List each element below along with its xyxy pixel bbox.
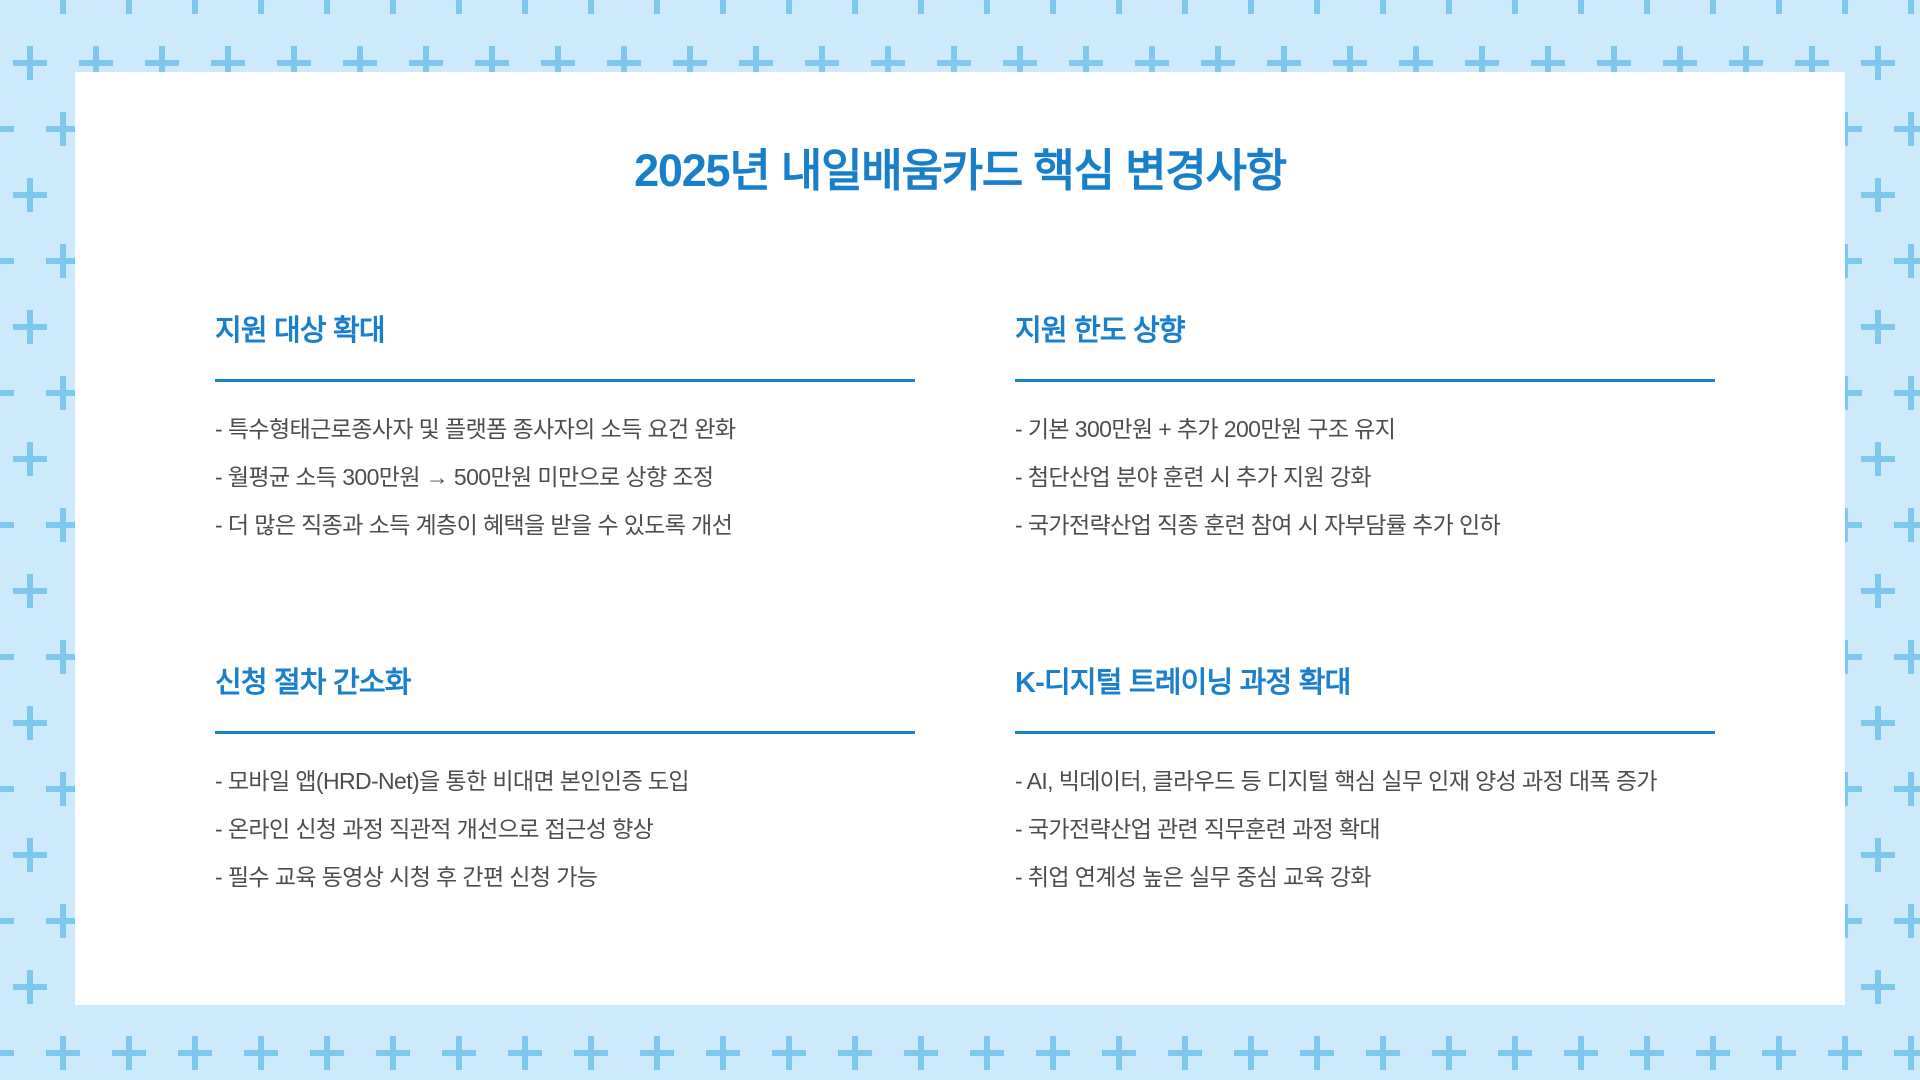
plus-icon: [0, 508, 14, 542]
plus-icon: [1861, 706, 1895, 740]
plus-icon: [1828, 1036, 1862, 1070]
plus-icon: [1432, 1036, 1466, 1070]
plus-icon: [1564, 1036, 1598, 1070]
poster-canvas: 2025년 내일배움카드 핵심 변경사항 지원 대상 확대 - 특수형태근로종사…: [0, 0, 1920, 1080]
plus-icon: [1894, 772, 1920, 806]
plus-icon: [1861, 574, 1895, 608]
plus-icon: [1696, 0, 1730, 14]
plus-icon: [376, 0, 410, 14]
section-divider: [215, 731, 915, 734]
plus-icon: [970, 0, 1004, 14]
plus-icon: [112, 0, 146, 14]
plus-icon: [1861, 310, 1895, 344]
list-item: - 취업 연계성 높은 실무 중심 교육 강화: [1015, 866, 1715, 889]
plus-icon: [0, 772, 14, 806]
plus-icon: [1036, 0, 1070, 14]
list-item: - 필수 교육 동영상 시청 후 간편 신청 가능: [215, 866, 915, 889]
plus-icon: [1894, 0, 1920, 14]
plus-icon: [706, 1036, 740, 1070]
plus-icon: [1630, 1036, 1664, 1070]
plus-icon: [1861, 46, 1895, 80]
list-item: - 첨단산업 분야 훈련 시 추가 지원 강화: [1015, 466, 1715, 489]
plus-icon: [1861, 970, 1895, 1004]
section-application-simplification: 신청 절차 간소화 - 모바일 앱(HRD-Net)을 통한 비대면 본인인증 …: [215, 659, 915, 889]
bullet-list: - 모바일 앱(HRD-Net)을 통한 비대면 본인인증 도입 - 온라인 신…: [215, 770, 915, 889]
plus-icon: [1696, 1036, 1730, 1070]
plus-icon: [1234, 0, 1268, 14]
plus-icon: [1366, 1036, 1400, 1070]
bullet-list: - 기본 300만원 + 추가 200만원 구조 유지 - 첨단산업 분야 훈련…: [1015, 418, 1715, 537]
plus-icon: [46, 0, 80, 14]
plus-icon: [178, 1036, 212, 1070]
plus-icon: [1102, 0, 1136, 14]
plus-icon: [904, 0, 938, 14]
plus-icon: [13, 310, 47, 344]
list-item: - 더 많은 직종과 소득 계층이 혜택을 받을 수 있도록 개선: [215, 514, 915, 537]
plus-icon: [0, 640, 14, 674]
plus-icon: [112, 1036, 146, 1070]
plus-icon: [0, 244, 14, 278]
plus-icon: [1894, 904, 1920, 938]
plus-icon: [310, 1036, 344, 1070]
plus-icon: [1366, 0, 1400, 14]
plus-icon: [0, 376, 14, 410]
section-heading: K-디지털 트레이닝 과정 확대: [1015, 659, 1715, 701]
content-card: 2025년 내일배움카드 핵심 변경사항 지원 대상 확대 - 특수형태근로종사…: [75, 72, 1845, 1005]
plus-icon: [1168, 1036, 1202, 1070]
plus-icon: [640, 1036, 674, 1070]
plus-icon: [1630, 0, 1664, 14]
plus-icon: [13, 178, 47, 212]
list-item: - 온라인 신청 과정 직관적 개선으로 접근성 향상: [215, 818, 915, 841]
plus-icon: [13, 838, 47, 872]
plus-icon: [1564, 0, 1598, 14]
plus-icon: [1861, 442, 1895, 476]
plus-icon: [772, 0, 806, 14]
section-divider: [1015, 379, 1715, 382]
plus-icon: [46, 1036, 80, 1070]
plus-icon: [0, 112, 14, 146]
section-divider: [1015, 731, 1715, 734]
section-heading: 지원 한도 상향: [1015, 307, 1715, 349]
plus-icon: [1894, 244, 1920, 278]
plus-icon: [244, 1036, 278, 1070]
plus-icon: [970, 1036, 1004, 1070]
plus-icon: [13, 574, 47, 608]
plus-icon: [442, 1036, 476, 1070]
plus-icon: [178, 0, 212, 14]
section-k-digital-training: K-디지털 트레이닝 과정 확대 - AI, 빅데이터, 클라우드 등 디지털 …: [1015, 659, 1715, 889]
page-title: 2025년 내일배움카드 핵심 변경사항: [75, 134, 1845, 199]
section-heading: 신청 절차 간소화: [215, 659, 915, 701]
plus-icon: [1498, 1036, 1532, 1070]
plus-icon: [508, 1036, 542, 1070]
plus-icon: [1861, 178, 1895, 212]
plus-icon: [1762, 0, 1796, 14]
plus-icon: [574, 0, 608, 14]
plus-icon: [640, 0, 674, 14]
plus-icon: [1168, 0, 1202, 14]
list-item: - AI, 빅데이터, 클라우드 등 디지털 핵심 실무 인재 양성 과정 대폭…: [1015, 770, 1715, 793]
plus-icon: [1300, 0, 1334, 14]
plus-icon: [1894, 508, 1920, 542]
section-support-limit-increase: 지원 한도 상향 - 기본 300만원 + 추가 200만원 구조 유지 - 첨…: [1015, 307, 1715, 537]
plus-icon: [508, 0, 542, 14]
bullet-list: - 특수형태근로종사자 및 플랫폼 종사자의 소득 요건 완화 - 월평균 소득…: [215, 418, 915, 537]
list-item: - 국가전략산업 직종 훈련 참여 시 자부담률 추가 인하: [1015, 514, 1715, 537]
plus-icon: [244, 0, 278, 14]
plus-icon: [1894, 376, 1920, 410]
list-item: - 월평균 소득 300만원 → 500만원 미만으로 상향 조정: [215, 466, 915, 489]
list-item: - 모바일 앱(HRD-Net)을 통한 비대면 본인인증 도입: [215, 770, 915, 793]
plus-icon: [13, 970, 47, 1004]
plus-icon: [0, 904, 14, 938]
plus-icon: [1894, 640, 1920, 674]
plus-icon: [376, 1036, 410, 1070]
plus-icon: [1828, 0, 1862, 14]
plus-icon: [904, 1036, 938, 1070]
plus-icon: [1894, 1036, 1920, 1070]
list-item: - 기본 300만원 + 추가 200만원 구조 유지: [1015, 418, 1715, 441]
plus-icon: [1498, 0, 1532, 14]
plus-icon: [1894, 112, 1920, 146]
plus-icon: [310, 0, 344, 14]
plus-icon: [574, 1036, 608, 1070]
list-item: - 국가전략산업 관련 직무훈련 과정 확대: [1015, 818, 1715, 841]
plus-icon: [706, 0, 740, 14]
plus-icon: [13, 46, 47, 80]
section-support-target-expansion: 지원 대상 확대 - 특수형태근로종사자 및 플랫폼 종사자의 소득 요건 완화…: [215, 307, 915, 537]
plus-icon: [1762, 1036, 1796, 1070]
plus-icon: [772, 1036, 806, 1070]
plus-icon: [1300, 1036, 1334, 1070]
plus-icon: [1102, 1036, 1136, 1070]
plus-icon: [13, 442, 47, 476]
section-heading: 지원 대상 확대: [215, 307, 915, 349]
plus-icon: [0, 1036, 14, 1070]
plus-icon: [1432, 0, 1466, 14]
plus-icon: [838, 0, 872, 14]
plus-icon: [0, 0, 14, 14]
sections-grid: 지원 대상 확대 - 특수형태근로종사자 및 플랫폼 종사자의 소득 요건 완화…: [215, 307, 1715, 889]
bullet-list: - AI, 빅데이터, 클라우드 등 디지털 핵심 실무 인재 양성 과정 대폭…: [1015, 770, 1715, 889]
plus-icon: [838, 1036, 872, 1070]
plus-icon: [1861, 838, 1895, 872]
plus-icon: [442, 0, 476, 14]
plus-icon: [13, 706, 47, 740]
section-divider: [215, 379, 915, 382]
list-item: - 특수형태근로종사자 및 플랫폼 종사자의 소득 요건 완화: [215, 418, 915, 441]
plus-icon: [1234, 1036, 1268, 1070]
plus-icon: [1036, 1036, 1070, 1070]
